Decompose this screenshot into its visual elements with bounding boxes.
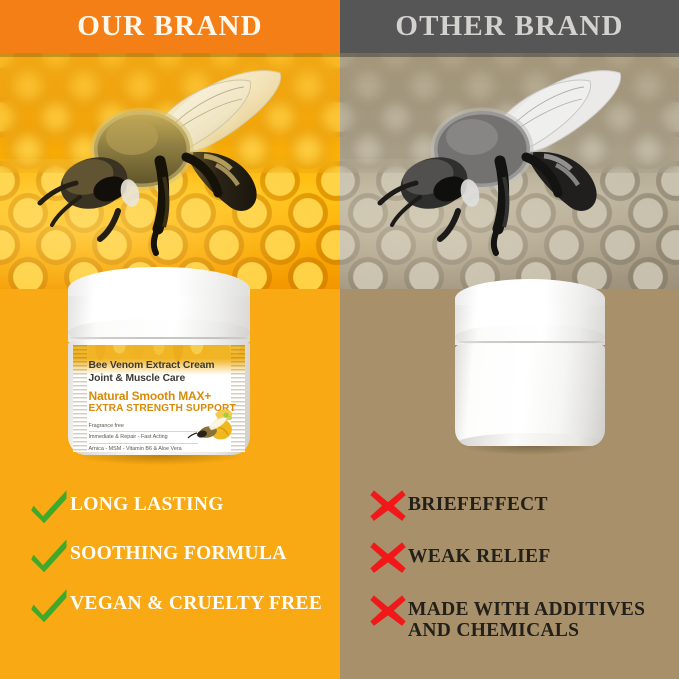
honeybee-icon [36,61,304,283]
feature-row: WEAK RELIEF [368,542,668,575]
feature-label: VEGAN & CRUELTY FREE [70,589,322,614]
our-brand-feature-list: LONG LASTING SOOTHING FORMULA VEGAN & CR… [30,490,330,638]
other-brand-product-jar [455,279,605,449]
feature-row: LONG LASTING [30,490,330,523]
label-side-fineprint-left [73,345,87,453]
feature-label: MADE WITH ADDITIVES AND CHEMICALS [408,595,645,642]
feature-row: BRIEFEFFECT [368,490,668,523]
feature-row: MADE WITH ADDITIVES AND CHEMICALS [368,595,668,642]
jar-body [455,344,605,446]
other-brand-header: OTHER BRAND [340,0,679,53]
label-title-line1: Bee Venom Extract Cream [89,359,230,372]
feature-label: BRIEFEFFECT [408,490,548,515]
our-brand-header-title: OUR BRAND [77,12,263,41]
label-title-line2: Joint & Muscle Care [89,372,230,385]
honeybee-desaturated-icon [376,61,644,283]
photo-top-edge [0,53,340,57]
our-brand-header: OUR BRAND [0,0,340,53]
other-brand-photo [340,53,679,289]
feature-row: SOOTHING FORMULA [30,539,330,572]
check-icon [30,488,70,523]
feature-label: LONG LASTING [70,490,224,515]
product-label: Bee Venom Extract Cream Joint & Muscle C… [73,345,246,453]
label-subtitle: Natural Smooth MAX+ [89,389,230,403]
photo-top-edge [340,53,679,57]
cross-icon [368,593,408,628]
label-bullet: Fragrance free [89,423,199,432]
label-bullet: Arnica - MSM - Vitamin B6 & Aloe Vera [89,446,199,453]
other-brand-feature-list: BRIEFEFFECT WEAK RELIEF MADE WITH ADDITI… [368,490,668,660]
check-icon [30,537,70,572]
label-side-fineprint-right [231,345,245,453]
cross-icon [368,540,408,575]
our-brand-product-jar: Bee Venom Extract Cream Joint & Muscle C… [68,267,250,459]
other-brand-header-title: OTHER BRAND [395,12,623,41]
feature-row: VEGAN & CRUELTY FREE [30,589,330,622]
cross-icon [368,488,408,523]
check-icon [30,587,70,622]
label-bullet: Immediate & Repair - Fast Acting [89,434,199,443]
feature-label: WEAK RELIEF [408,542,551,567]
jar-base [455,433,605,445]
comparison-infographic: OUR BRAND OTHER BRAND [0,0,679,679]
bee-and-honey-dipper-illustration-icon [187,404,233,446]
our-brand-photo [0,53,340,289]
feature-label: SOOTHING FORMULA [70,539,287,564]
